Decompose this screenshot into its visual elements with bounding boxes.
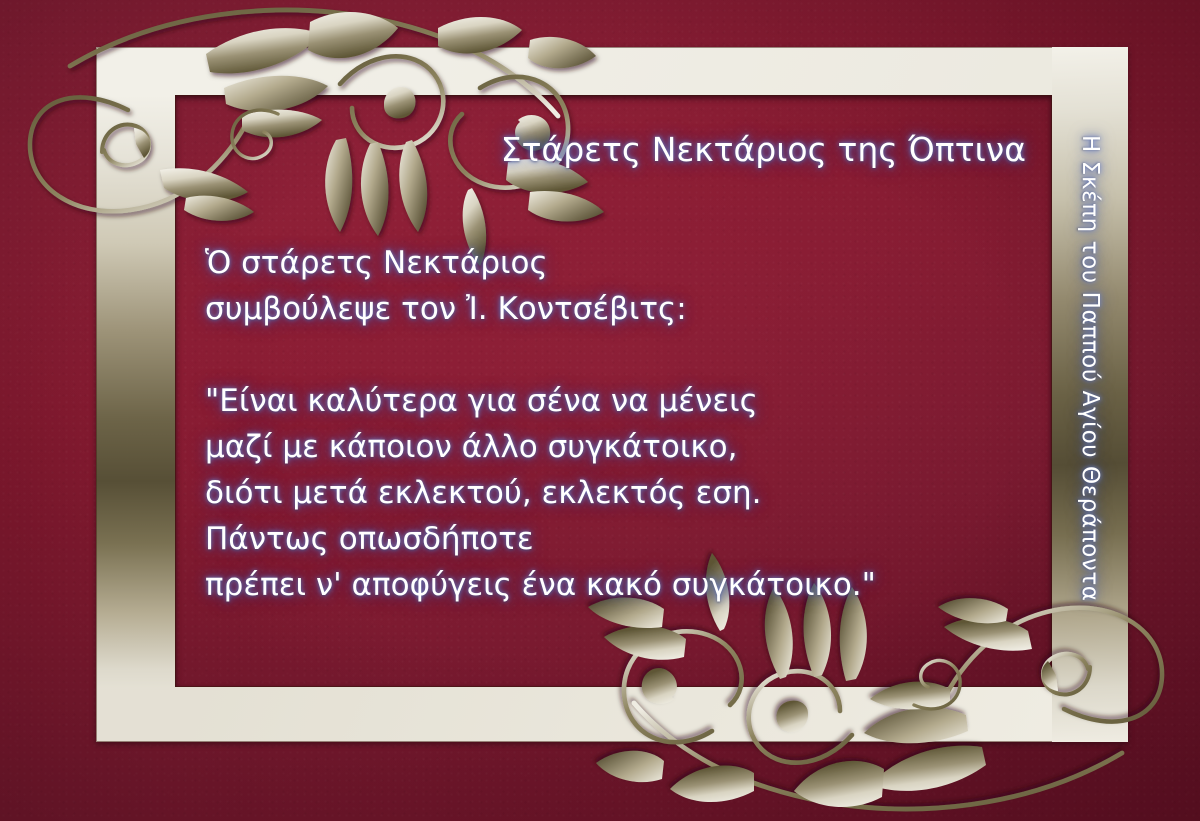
intro-line: Ὁ στάρετς Νεκτάριος (205, 240, 1005, 286)
slide-body: Ὁ στάρετς Νεκτάριος συμβούλεψε τον Ἰ. Κο… (205, 240, 1005, 608)
quote-line: πρέπει ν' αποφύγεις ένα κακό συγκάτοικο.… (205, 562, 1005, 608)
quote-line: διότι μετά εκλεκτού, εκλεκτός εση. (205, 470, 1005, 516)
paragraph-spacer (205, 332, 1005, 378)
intro-line: συμβούλεψε τον Ἰ. Κοντσέβιτς: (205, 286, 1005, 332)
page-title: Στάρετς Νεκτάριος της Όπτινα (0, 130, 1026, 169)
quote-paragraph: "Είναι καλύτερα για σένα να μένεις μαζί … (205, 378, 1005, 608)
presentation-slide: Η Σκέπη του Παππού Αγίου Θεράποντα (0, 0, 1200, 821)
side-caption: Η Σκέπη του Παππού Αγίου Θεράποντα (1052, 47, 1128, 742)
intro-paragraph: Ὁ στάρετς Νεκτάριος συμβούλεψε τον Ἰ. Κο… (205, 240, 1005, 332)
quote-line: μαζί με κάποιον άλλο συγκάτοικο, (205, 424, 1005, 470)
quote-line: Πάντως οπωσδήποτε (205, 516, 1005, 562)
quote-line: "Είναι καλύτερα για σένα να μένεις (205, 378, 1005, 424)
side-caption-text: Η Σκέπη του Παππού Αγίου Θεράποντα (1077, 135, 1103, 602)
